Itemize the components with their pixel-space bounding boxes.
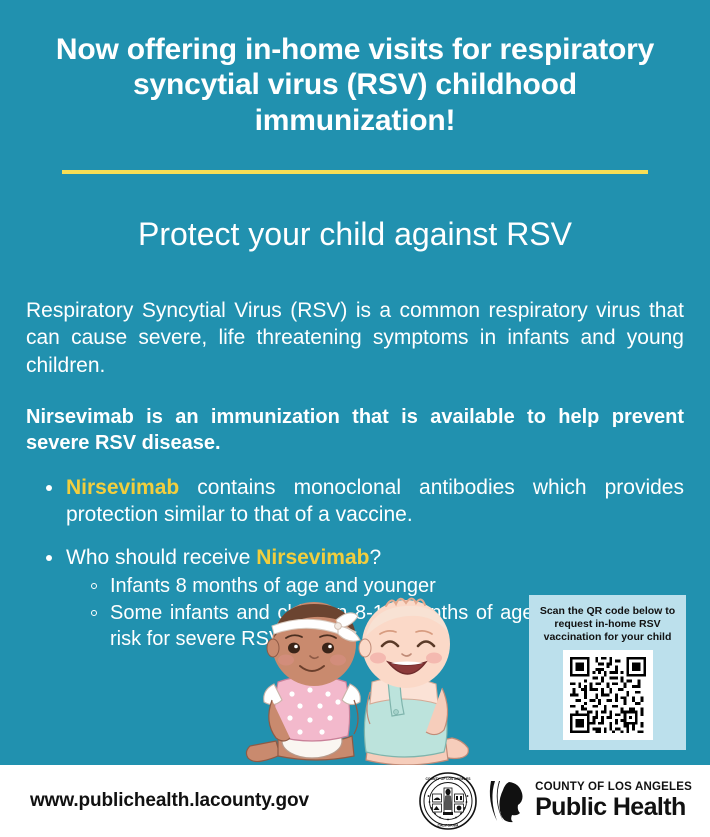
list-item-text: ? [370, 546, 382, 569]
footer: www.publichealth.lacounty.gov COUNTY OF … [0, 765, 710, 837]
logo-bottom-line: Public Health [535, 795, 692, 820]
qr-panel: Scan the QR code below to request in-hom… [529, 595, 686, 750]
footer-logos: COUNTY OF LOS ANGELES CALIFORNIA [419, 772, 692, 830]
la-county-seal-icon: COUNTY OF LOS ANGELES CALIFORNIA [419, 772, 477, 830]
baby-left [246, 602, 360, 762]
public-health-logo: COUNTY OF LOS ANGELES Public Health [487, 779, 692, 823]
page-title: Now offering in-home visits for respirat… [0, 20, 710, 138]
divider-container [0, 158, 710, 174]
statement-paragraph: Nirsevimab is an immunization that is av… [26, 404, 684, 456]
rsv-immunization-poster: Now offering in-home visits for respirat… [0, 0, 710, 837]
svg-text:COUNTY OF LOS ANGELES: COUNTY OF LOS ANGELES [426, 777, 472, 781]
accent-term: Nirsevimab [256, 546, 369, 569]
list-item: Nirsevimab contains monoclonal antibodie… [42, 474, 684, 529]
public-health-wordmark: COUNTY OF LOS ANGELES Public Health [535, 782, 692, 820]
qr-caption: Scan the QR code below to request in-hom… [529, 605, 686, 643]
yellow-divider [62, 170, 648, 174]
list-item-lead: Who should receive [66, 546, 256, 569]
website-url[interactable]: www.publichealth.lacounty.gov [30, 790, 309, 812]
svg-text:CALIFORNIA: CALIFORNIA [438, 824, 459, 828]
accent-term: Nirsevimab [66, 476, 179, 499]
qr-code[interactable] [563, 650, 653, 740]
intro-paragraph: Respiratory Syncytial Virus (RSV) is a c… [26, 297, 684, 380]
subheading: Protect your child against RSV [0, 201, 710, 252]
baby-right [359, 599, 468, 766]
babies-illustration [228, 596, 480, 768]
faces-profile-icon [487, 779, 529, 823]
